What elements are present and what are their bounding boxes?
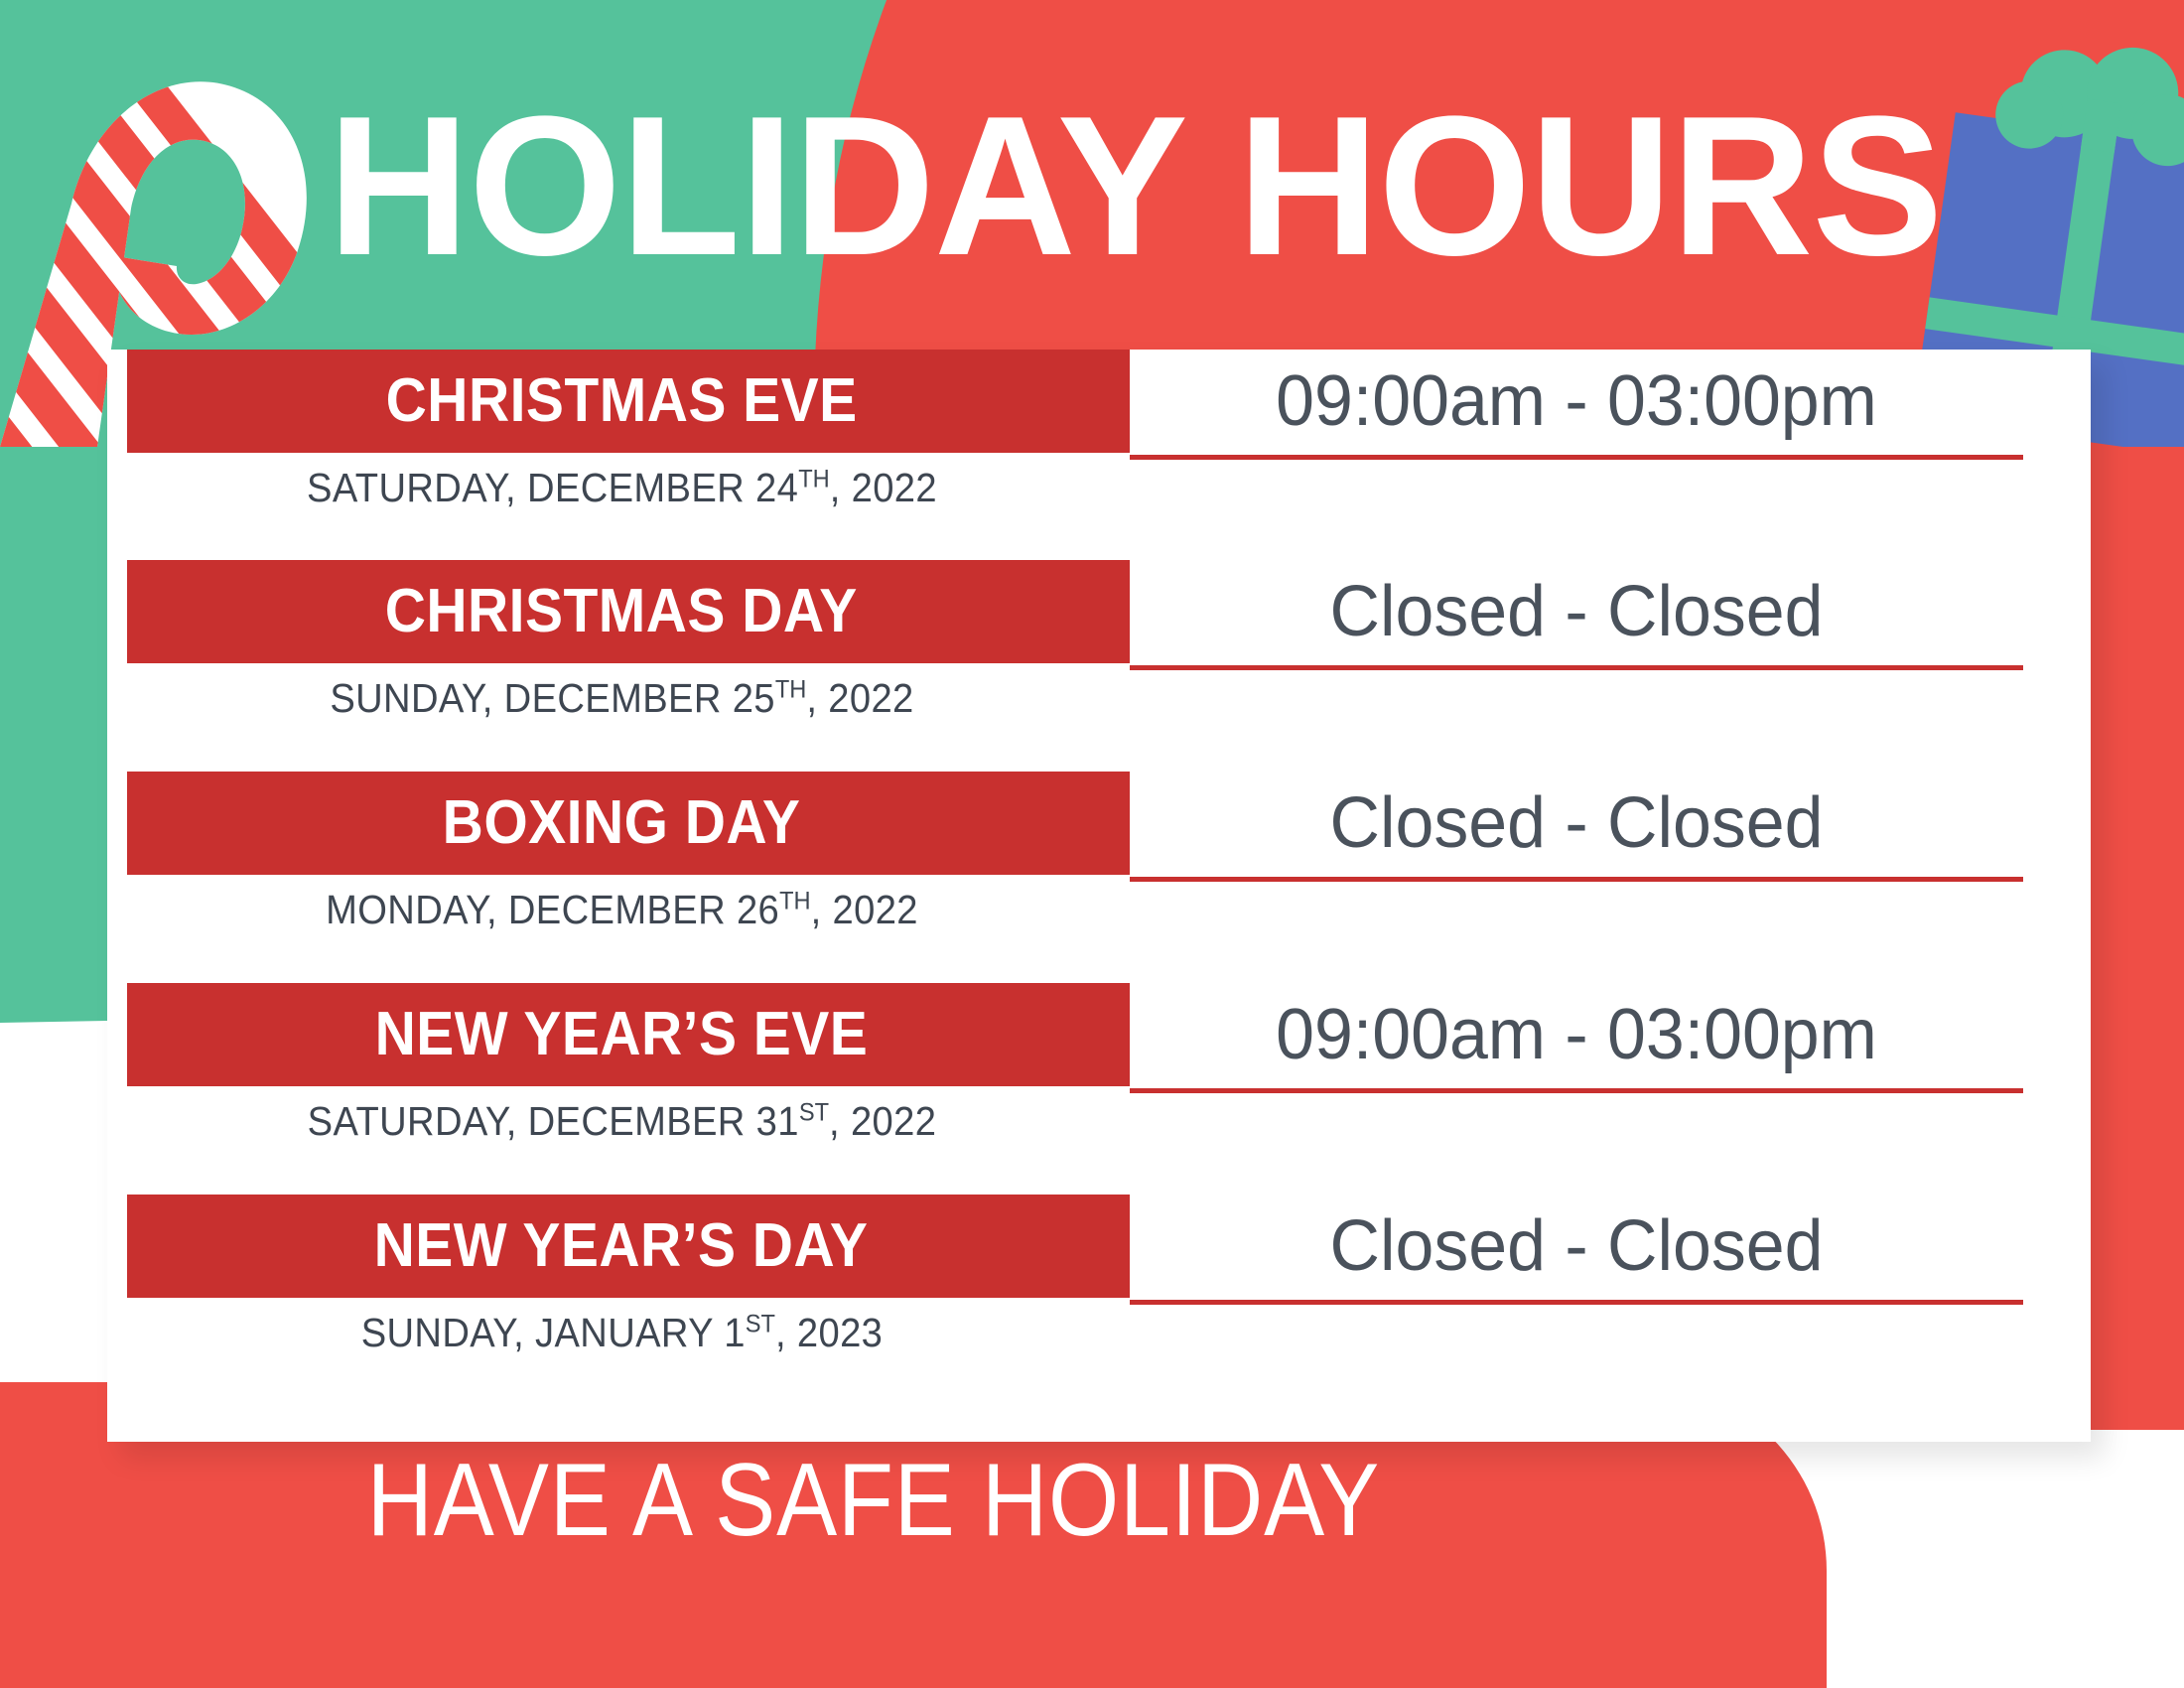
holiday-date: SATURDAY, DECEMBER 31ST, 2022 bbox=[162, 1086, 1094, 1145]
holiday-name-block: BOXING DAYMONDAY, DECEMBER 26TH, 2022 bbox=[127, 772, 1130, 933]
holiday-date-ordinal: ST bbox=[799, 1098, 829, 1126]
holiday-name-block: CHRISTMAS DAYSUNDAY, DECEMBER 25TH, 2022 bbox=[127, 560, 1130, 722]
holiday-hours-poster: HOLIDAY HOURS CHRISTMAS EVESATURDAY, DEC… bbox=[0, 0, 2184, 1688]
holiday-hours: 09:00am - 03:00pm bbox=[1144, 350, 2010, 453]
holiday-date-year: , 2022 bbox=[806, 675, 913, 721]
holiday-hours-block: Closed - Closed bbox=[1130, 1195, 2023, 1305]
holiday-date: SUNDAY, JANUARY 1ST, 2023 bbox=[162, 1298, 1094, 1356]
holiday-date-year: , 2023 bbox=[775, 1310, 883, 1355]
holiday-name: NEW YEAR’S DAY bbox=[374, 1215, 869, 1277]
hours-underline bbox=[1130, 877, 2023, 882]
holiday-date-ordinal: TH bbox=[775, 675, 807, 703]
holiday-hours: Closed - Closed bbox=[1144, 1195, 2010, 1298]
hours-underline bbox=[1130, 1088, 2023, 1093]
schedule-row: CHRISTMAS EVESATURDAY, DECEMBER 24TH, 20… bbox=[107, 350, 2091, 560]
page-title: HOLIDAY HOURS bbox=[328, 87, 1920, 286]
holiday-date-ordinal: TH bbox=[798, 465, 830, 492]
holiday-hours-block: 09:00am - 03:00pm bbox=[1130, 983, 2023, 1093]
schedule-row: NEW YEAR’S DAYSUNDAY, JANUARY 1ST, 2023C… bbox=[107, 1195, 2091, 1406]
holiday-label-bar: NEW YEAR’S EVE bbox=[127, 983, 1130, 1086]
holiday-label-bar: BOXING DAY bbox=[127, 772, 1130, 875]
holiday-label-bar: NEW YEAR’S DAY bbox=[127, 1195, 1130, 1298]
holiday-date-ordinal: TH bbox=[779, 887, 811, 914]
holiday-date-weekday: SUNDAY, JANUARY 1 bbox=[361, 1310, 746, 1355]
holiday-name-block: CHRISTMAS EVESATURDAY, DECEMBER 24TH, 20… bbox=[127, 350, 1130, 511]
holiday-hours: 09:00am - 03:00pm bbox=[1144, 983, 2010, 1086]
holiday-hours: Closed - Closed bbox=[1144, 772, 2010, 875]
schedule-rows: CHRISTMAS EVESATURDAY, DECEMBER 24TH, 20… bbox=[107, 350, 2091, 1406]
holiday-date-year: , 2022 bbox=[811, 887, 918, 932]
holiday-date: SATURDAY, DECEMBER 24TH, 2022 bbox=[162, 453, 1094, 511]
holiday-hours-block: 09:00am - 03:00pm bbox=[1130, 350, 2023, 460]
holiday-date-weekday: MONDAY, DECEMBER 26 bbox=[326, 887, 779, 932]
holiday-name: NEW YEAR’S EVE bbox=[375, 1004, 869, 1065]
hours-underline bbox=[1130, 665, 2023, 670]
holiday-name: CHRISTMAS EVE bbox=[385, 370, 857, 432]
holiday-hours-block: Closed - Closed bbox=[1130, 560, 2023, 670]
holiday-date: SUNDAY, DECEMBER 25TH, 2022 bbox=[162, 663, 1094, 722]
holiday-date-weekday: SUNDAY, DECEMBER 25 bbox=[330, 675, 775, 721]
holiday-date-ordinal: ST bbox=[746, 1310, 775, 1337]
holiday-name: CHRISTMAS DAY bbox=[385, 581, 858, 642]
holiday-date-year: , 2022 bbox=[829, 1098, 936, 1144]
holiday-name-block: NEW YEAR’S DAYSUNDAY, JANUARY 1ST, 2023 bbox=[127, 1195, 1130, 1356]
schedule-row: NEW YEAR’S EVESATURDAY, DECEMBER 31ST, 2… bbox=[107, 983, 2091, 1195]
schedule-row: CHRISTMAS DAYSUNDAY, DECEMBER 25TH, 2022… bbox=[107, 560, 2091, 772]
holiday-date: MONDAY, DECEMBER 26TH, 2022 bbox=[162, 875, 1094, 933]
holiday-label-bar: CHRISTMAS EVE bbox=[127, 350, 1130, 453]
holiday-label-bar: CHRISTMAS DAY bbox=[127, 560, 1130, 663]
holiday-name: BOXING DAY bbox=[443, 792, 801, 854]
holiday-name-block: NEW YEAR’S EVESATURDAY, DECEMBER 31ST, 2… bbox=[127, 983, 1130, 1145]
holiday-date-year: , 2022 bbox=[830, 465, 937, 510]
footer-tagline: HAVE A SAFE HOLIDAY bbox=[105, 1442, 1643, 1560]
holiday-hours: Closed - Closed bbox=[1144, 560, 2010, 663]
schedule-row: BOXING DAYMONDAY, DECEMBER 26TH, 2022Clo… bbox=[107, 772, 2091, 983]
holiday-date-weekday: SATURDAY, DECEMBER 31 bbox=[308, 1098, 799, 1144]
hours-underline bbox=[1130, 455, 2023, 460]
holiday-hours-block: Closed - Closed bbox=[1130, 772, 2023, 882]
schedule-card: CHRISTMAS EVESATURDAY, DECEMBER 24TH, 20… bbox=[107, 350, 2091, 1442]
hours-underline bbox=[1130, 1300, 2023, 1305]
holiday-date-weekday: SATURDAY, DECEMBER 24 bbox=[307, 465, 798, 510]
